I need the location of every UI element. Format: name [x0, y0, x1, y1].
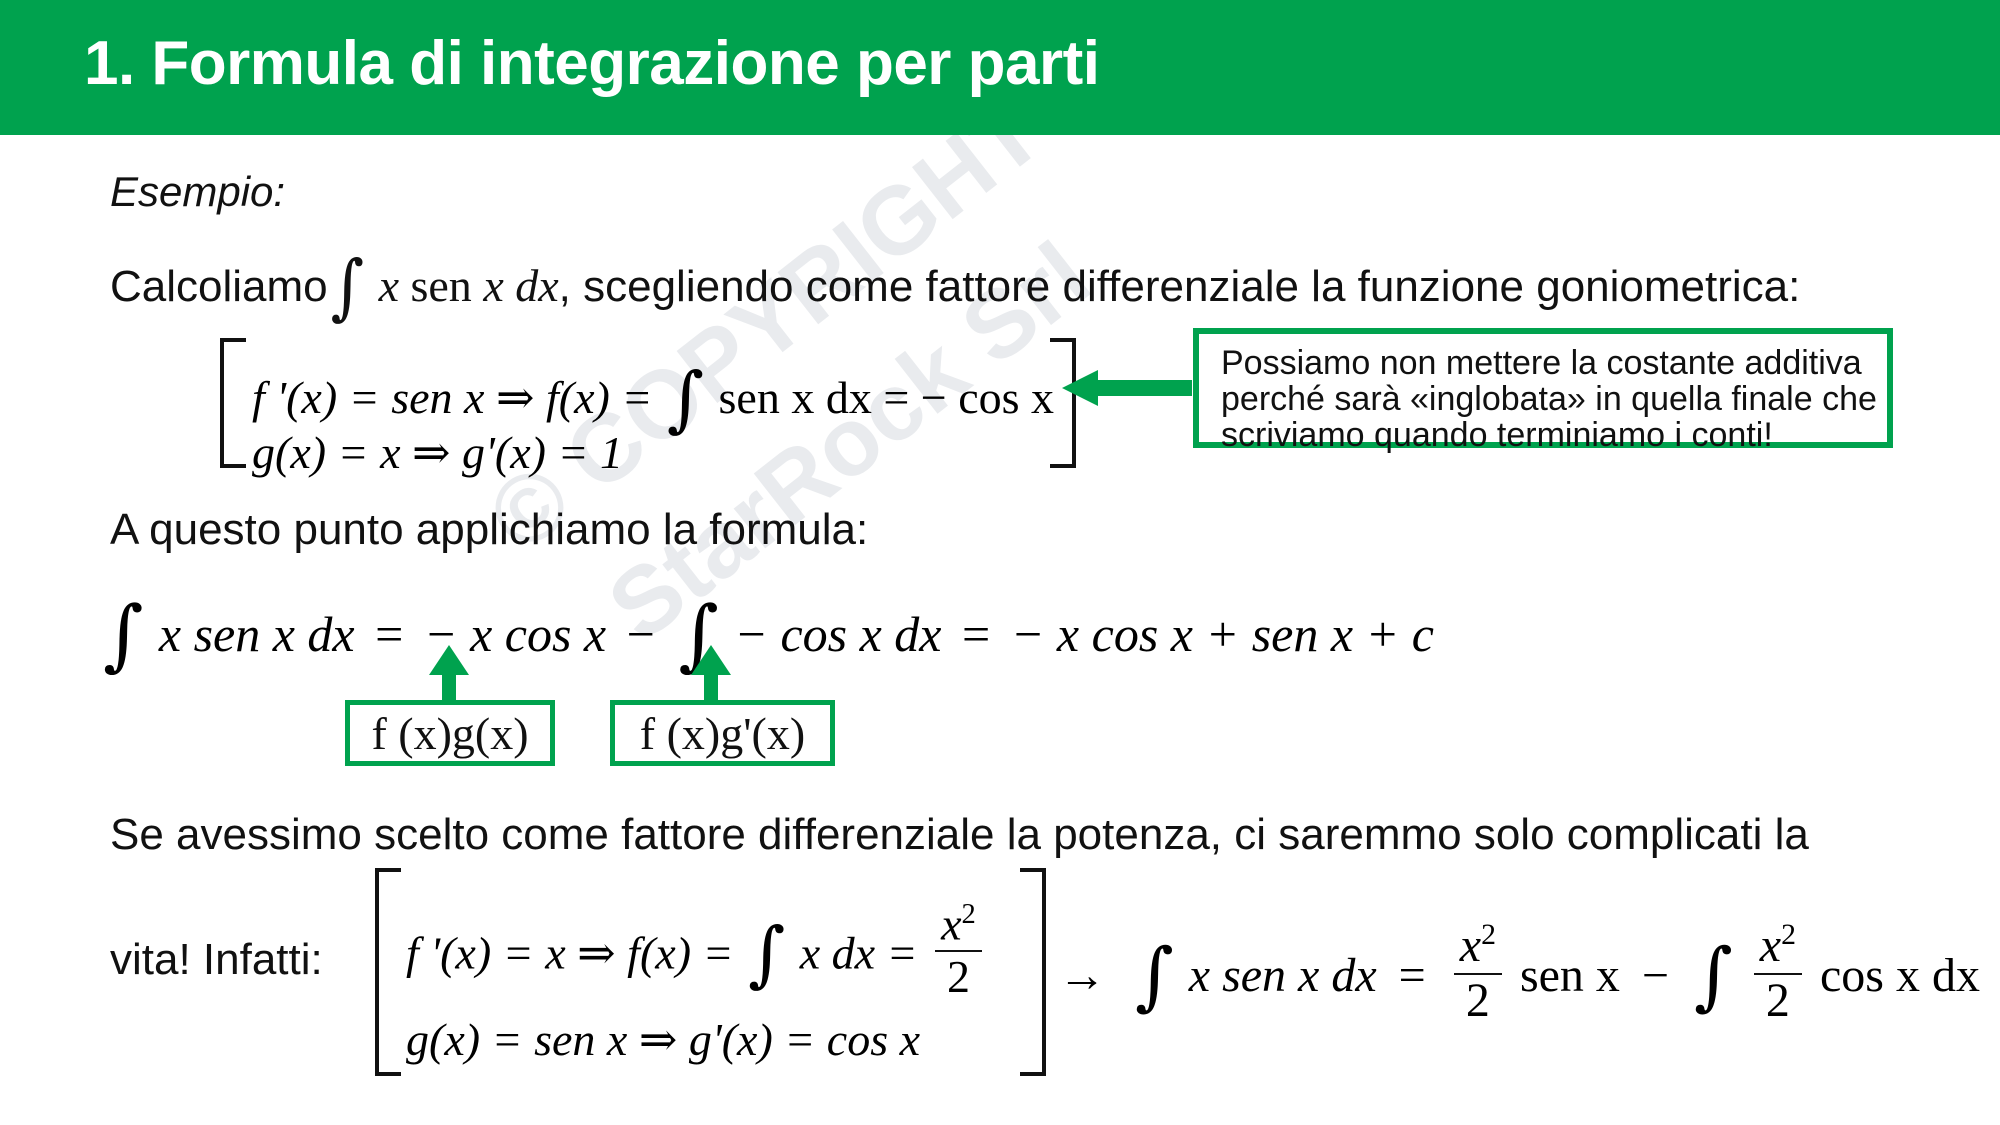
- callout-box: Possiamo non mettere la costante additiv…: [1193, 328, 1893, 448]
- callout-arrow-icon: [1060, 368, 1192, 408]
- main-formula-seg-3: − cos x dx: [734, 606, 941, 662]
- vita-infatti-label: vita! Infatti:: [110, 935, 323, 985]
- system-one-row1-integral: ∫: [664, 357, 707, 440]
- label-box-fgprime: f (x)g'(x): [610, 700, 835, 766]
- final-formula-arrow: →: [1058, 949, 1120, 1002]
- system-two-row1-mid: x dx =: [800, 927, 918, 978]
- system-one-row1-lhs: f '(x) = sen x ⇒ f(x) =: [252, 372, 652, 423]
- final-formula-seg-1: x sen x dx: [1189, 949, 1377, 1002]
- applichiamo-line: A questo punto applichiamo la formula:: [110, 505, 868, 555]
- final-formula-integral-2: ∫: [1691, 932, 1736, 1019]
- esempio-label: Esempio:: [110, 168, 285, 216]
- final-formula: → ∫ x sen x dx = x2 2 sen x − ∫ x2 2 cos…: [1058, 920, 1980, 1026]
- slide-canvas: © COPYRIGHT 2015 StarRock Srl 1. Formula…: [0, 0, 2000, 1125]
- callout-arrow: [1060, 368, 1192, 408]
- final-frac2-num-base: x: [1760, 919, 1781, 972]
- calcoliamo-line: Calcoliamo∫ x sen x dx, scegliendo come …: [110, 235, 1800, 318]
- system-two-row1-frac-num: x2: [935, 900, 982, 952]
- label-box-fgprime-text: f (x)g'(x): [640, 707, 805, 760]
- label-box-fg: f (x)g(x): [345, 700, 555, 766]
- frac-num-exp: 2: [962, 899, 976, 930]
- final-frac1-num-base: x: [1460, 919, 1481, 972]
- main-formula-equals-1: =: [367, 606, 411, 662]
- calcoliamo-prefix: Calcoliamo: [110, 262, 328, 311]
- final-frac1-num: x2: [1454, 920, 1502, 975]
- page-title: 1. Formula di integrazione per parti: [84, 28, 1100, 99]
- final-formula-fraction-1: x2 2: [1448, 920, 1508, 1026]
- frac-num-base: x: [941, 898, 961, 949]
- final-frac2-den: 2: [1754, 975, 1802, 1026]
- label-box-fg-text: f (x)g(x): [371, 707, 528, 760]
- system-two-row1-fraction: x2 2: [929, 900, 988, 1001]
- main-formula-minus: −: [619, 606, 663, 662]
- system-one-row-2: g(x) = x ⇒ g'(x) = 1: [252, 425, 623, 479]
- system-one-row1-rhs: sen x dx = − cos x: [719, 372, 1055, 423]
- main-formula-integral-1: ∫: [100, 590, 146, 680]
- final-frac2-num: x2: [1754, 920, 1802, 975]
- final-formula-minus: −: [1632, 949, 1679, 1002]
- main-formula-seg-4: − x cos x + sen x + c: [1011, 606, 1434, 662]
- final-formula-seg-3: cos x dx: [1820, 949, 1980, 1002]
- final-formula-fraction-2: x2 2: [1748, 920, 1808, 1026]
- system-two-row1-integral: ∫: [745, 912, 788, 995]
- system-one-row-1: f '(x) = sen x ⇒ f(x) = ∫ sen x dx = − c…: [252, 347, 1054, 430]
- callout-line-2: perché sarà «inglobata» in quella finale…: [1221, 380, 1877, 419]
- system-two-row1-frac-den: 2: [935, 952, 982, 1001]
- final-frac2-num-exp: 2: [1781, 918, 1796, 951]
- system-two-row-2: g(x) = sen x ⇒ g'(x) = cos x: [406, 1012, 920, 1066]
- calcoliamo-integral: ∫ x sen x dx: [328, 260, 559, 311]
- main-formula-seg-1: x sen x dx: [159, 606, 355, 662]
- calcoliamo-suffix: , scegliendo come fattore differenziale …: [559, 262, 1801, 311]
- final-formula-equals: =: [1389, 949, 1436, 1002]
- system-one-bracket-left: [220, 338, 246, 468]
- system-two-row-1: f '(x) = x ⇒ f(x) = ∫ x dx = x2 2: [406, 900, 988, 1001]
- final-frac1-den: 2: [1454, 975, 1502, 1026]
- se-avessimo-line: Se avessimo scelto come fattore differen…: [110, 810, 1809, 860]
- main-formula: ∫ x sen x dx = − x cos x − ∫ − cos x dx …: [100, 580, 1434, 670]
- final-formula-seg-2: sen x: [1520, 949, 1620, 1002]
- system-two-row1-lhs: f '(x) = x ⇒ f(x) =: [406, 927, 734, 978]
- final-frac1-num-exp: 2: [1481, 918, 1496, 951]
- main-formula-equals-2: =: [954, 606, 998, 662]
- slide-header-bar: 1. Formula di integrazione per parti: [0, 0, 2000, 135]
- final-formula-integral-1: ∫: [1132, 932, 1177, 1019]
- system-two-bracket-left: [375, 868, 401, 1076]
- system-two-bracket-right: [1020, 868, 1046, 1076]
- callout-line-1: Possiamo non mettere la costante additiv…: [1221, 344, 1862, 383]
- callout-line-3: scriviamo quando terminiamo i conti!: [1221, 416, 1773, 455]
